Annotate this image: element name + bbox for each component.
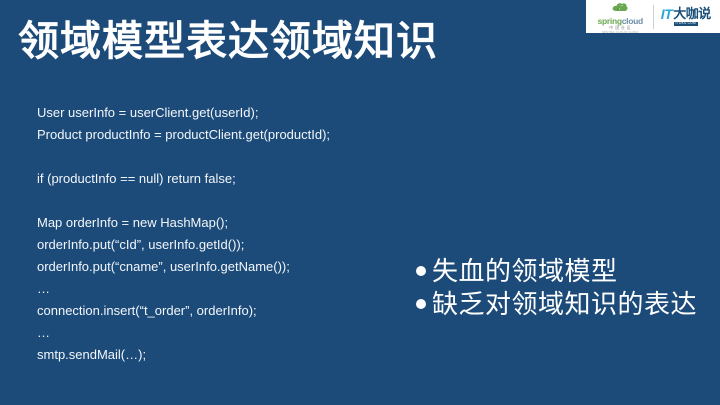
spring-cloud-wordmark: springcloud — [598, 17, 643, 26]
it-subtitle: ITDKS.COM — [674, 22, 698, 26]
bullet-dot-icon — [416, 299, 426, 309]
code-line: … — [37, 322, 330, 344]
list-item: 失血的领域模型 — [416, 256, 706, 287]
code-line — [37, 190, 330, 212]
spring-cloud-logo: springcloud 中 国 社 区 SPRING CLOUD CHINA — [588, 0, 653, 33]
code-line: smtp.sendMail(…); — [37, 344, 330, 366]
logo-band: springcloud 中 国 社 区 SPRING CLOUD CHINA I… — [586, 0, 720, 33]
presentation-slide: springcloud 中 国 社 区 SPRING CLOUD CHINA I… — [0, 0, 720, 405]
spring-cloud-subtitle-en: SPRING CLOUD CHINA — [602, 31, 639, 34]
bullet-dot-icon — [416, 266, 426, 276]
code-line — [37, 146, 330, 168]
cloud-leaf-icon — [612, 0, 628, 16]
code-line: connection.insert(“t_order”, orderInfo); — [37, 300, 330, 322]
code-line: if (productInfo == null) return false; — [37, 168, 330, 190]
code-block: User userInfo = userClient.get(userId);P… — [37, 102, 330, 366]
code-line: orderInfo.put(“cId”, userInfo.getId()); — [37, 234, 330, 256]
code-line: Product productInfo = productClient.get(… — [37, 124, 330, 146]
list-item-label: 缺乏对领域知识的表达 — [432, 289, 697, 320]
code-line: User userInfo = userClient.get(userId); — [37, 102, 330, 124]
it-prefix: IT — [661, 7, 672, 21]
code-line: … — [37, 278, 330, 300]
list-item-label: 失血的领域模型 — [432, 256, 618, 287]
code-line: Map orderInfo = new HashMap(); — [37, 212, 330, 234]
list-item: 缺乏对领域知识的表达 — [416, 289, 706, 320]
code-line: orderInfo.put(“cname”, userInfo.getName(… — [37, 256, 330, 278]
it-dakashuo-logo: IT 大咖说 ITDKS.COM — [654, 0, 719, 33]
page-title: 领域模型表达领域知识 — [18, 16, 438, 66]
cloud-word: cloud — [622, 16, 643, 26]
bullet-list: 失血的领域模型缺乏对领域知识的表达 — [416, 256, 706, 322]
it-wordmark: 大咖说 — [673, 7, 711, 20]
spring-word: spring — [598, 16, 622, 26]
